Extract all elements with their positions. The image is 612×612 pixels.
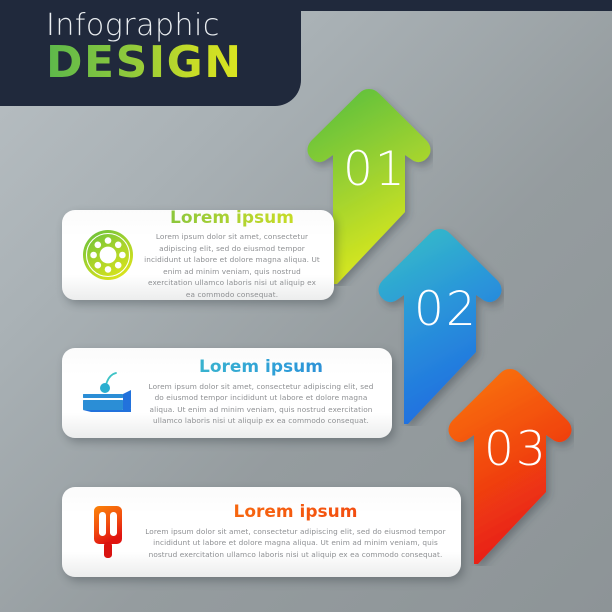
info-card-1[interactable]: Lorem ipsum Lorem ipsum dolor sit amet, … xyxy=(62,210,334,300)
card-1-title: Lorem ipsum xyxy=(144,210,320,228)
header-title-group: Infographic DESIGN xyxy=(46,8,243,86)
step-arrow-03[interactable]: 03 xyxy=(446,366,574,566)
card-1-body: Lorem ipsum Lorem ipsum dolor sit amet, … xyxy=(140,210,334,301)
popsicle-icon xyxy=(88,504,128,560)
card-3-text: Lorem ipsum dolor sit amet, consectetur … xyxy=(144,526,447,561)
info-card-2[interactable]: Lorem ipsum Lorem ipsum dolor sit amet, … xyxy=(62,348,392,438)
card-3-body: Lorem ipsum Lorem ipsum dolor sit amet, … xyxy=(140,504,461,560)
arrow-number-02: 02 xyxy=(414,286,478,333)
card-2-title: Lorem ipsum xyxy=(144,359,378,377)
card-1-text: Lorem ipsum dolor sit amet, consectetur … xyxy=(144,231,320,300)
card-3-title: Lorem ipsum xyxy=(144,504,447,522)
header-title-line2: DESIGN xyxy=(46,41,243,86)
card-2-body: Lorem ipsum Lorem ipsum dolor sit amet, … xyxy=(140,359,392,427)
arrow-number-03: 03 xyxy=(484,426,548,473)
header-panel: Infographic DESIGN xyxy=(0,0,301,106)
cake-slice-icon xyxy=(81,368,135,418)
infographic-canvas: 01 02 xyxy=(0,0,612,612)
card-2-icon-wrap xyxy=(62,368,140,418)
card-1-icon-wrap xyxy=(62,229,140,281)
info-card-3[interactable]: Lorem ipsum Lorem ipsum dolor sit amet, … xyxy=(62,487,461,577)
arrow-number-01: 01 xyxy=(343,146,407,193)
wheel-rim-icon xyxy=(82,229,134,281)
card-2-text: Lorem ipsum dolor sit amet, consectetur … xyxy=(144,381,378,427)
card-3-icon-wrap xyxy=(62,504,140,560)
